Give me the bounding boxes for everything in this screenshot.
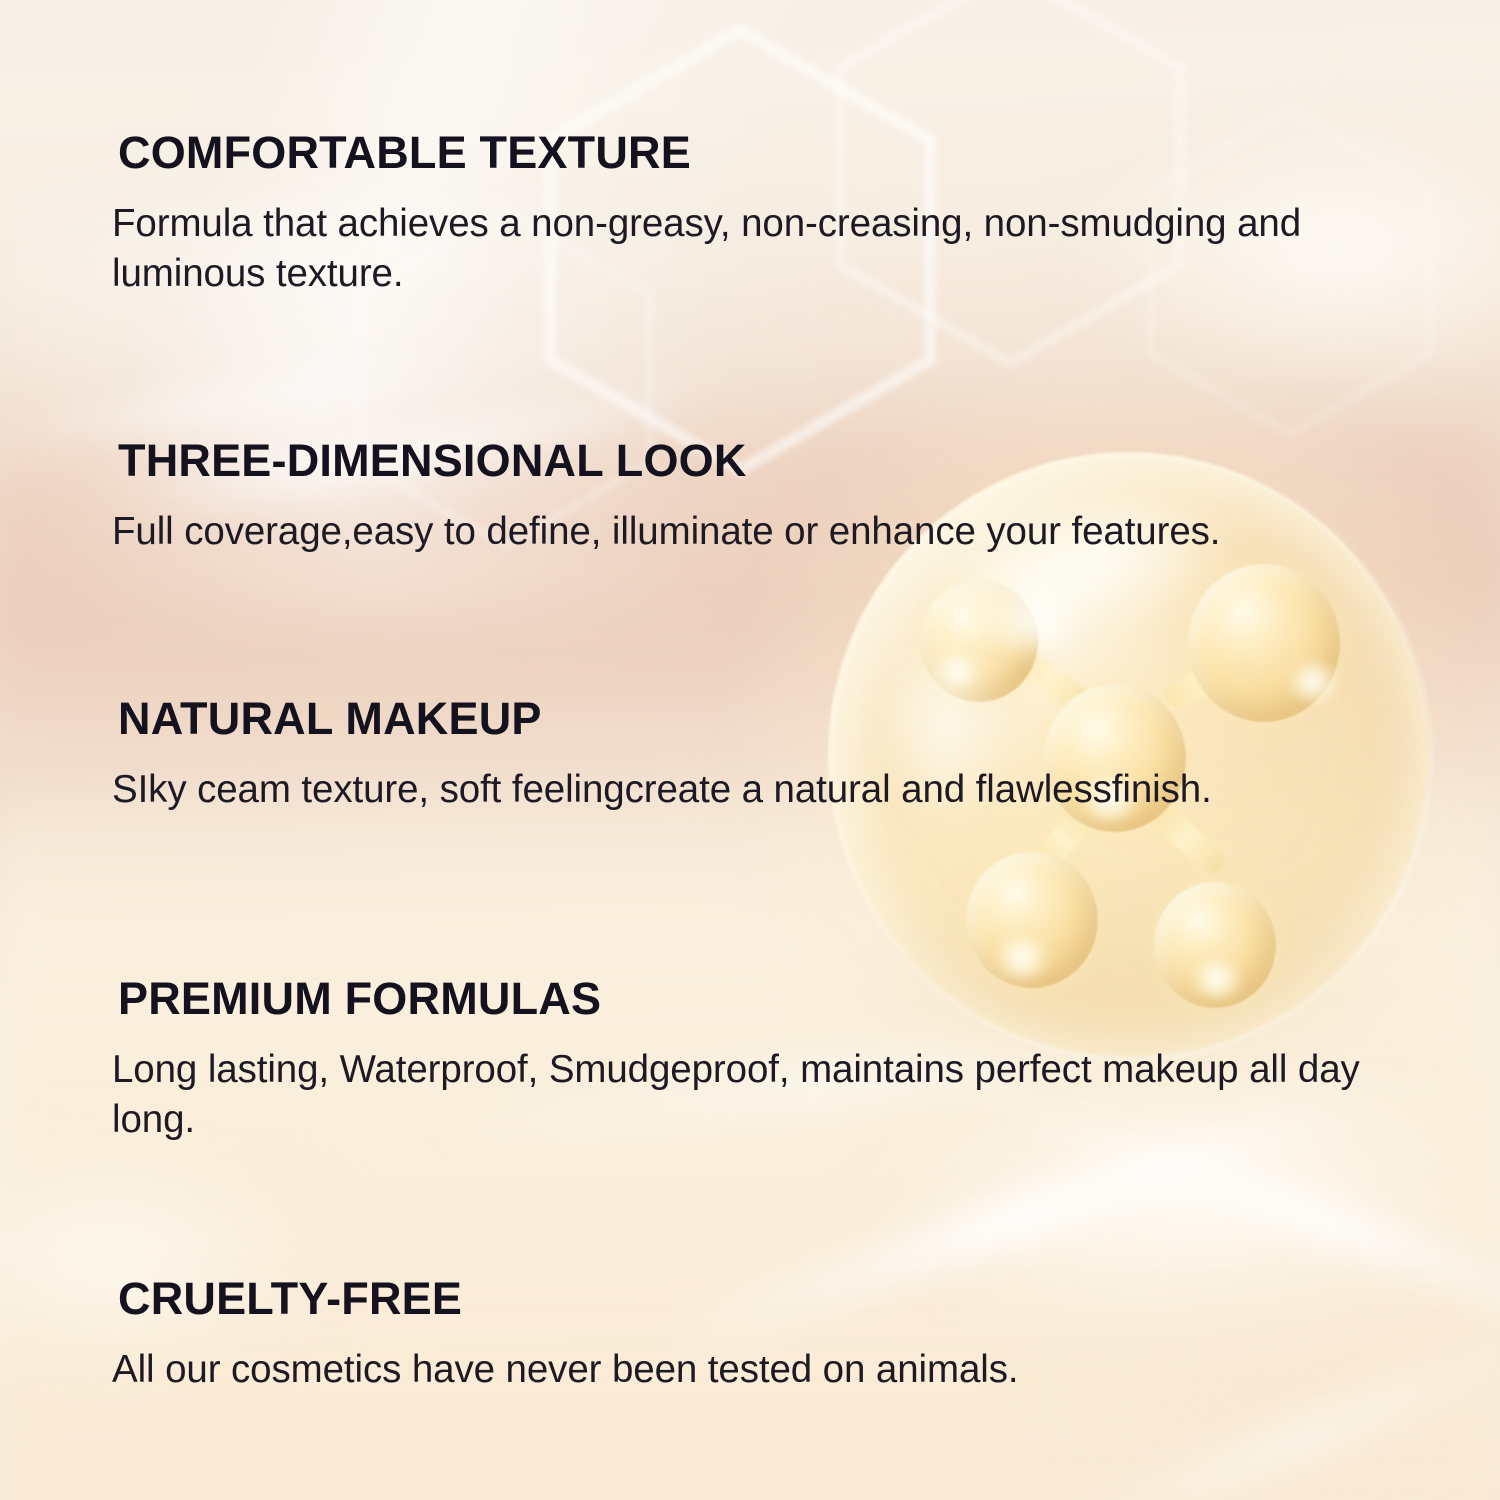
feature-block-premium-formulas: PREMIUM FORMULAS Long lasting, Waterproo… [112, 976, 1412, 1145]
feature-body: All our cosmetics have never been tested… [112, 1345, 1018, 1395]
feature-body: SIky ceam texture, soft feelingcreate a … [112, 765, 1212, 815]
feature-heading: THREE-DIMENSIONAL LOOK [118, 438, 1220, 485]
product-feature-poster: COMFORTABLE TEXTURE Formula that achieve… [0, 0, 1500, 1500]
feature-body: Long lasting, Waterproof, Smudgeproof, m… [112, 1045, 1412, 1145]
feature-body: Formula that achieves a non-greasy, non-… [112, 199, 1412, 299]
feature-block-three-dimensional-look: THREE-DIMENSIONAL LOOK Full coverage,eas… [112, 438, 1220, 557]
feature-block-comfortable-texture: COMFORTABLE TEXTURE Formula that achieve… [112, 130, 1412, 299]
feature-list: COMFORTABLE TEXTURE Formula that achieve… [0, 0, 1500, 1500]
feature-heading: CRUELTY-FREE [118, 1276, 1018, 1323]
feature-body: Full coverage,easy to define, illuminate… [112, 507, 1220, 557]
feature-block-cruelty-free: CRUELTY-FREE All our cosmetics have neve… [112, 1276, 1018, 1395]
feature-heading: PREMIUM FORMULAS [118, 976, 1412, 1023]
feature-heading: NATURAL MAKEUP [118, 696, 1212, 743]
feature-heading: COMFORTABLE TEXTURE [118, 130, 1412, 177]
feature-block-natural-makeup: NATURAL MAKEUP SIky ceam texture, soft f… [112, 696, 1212, 815]
